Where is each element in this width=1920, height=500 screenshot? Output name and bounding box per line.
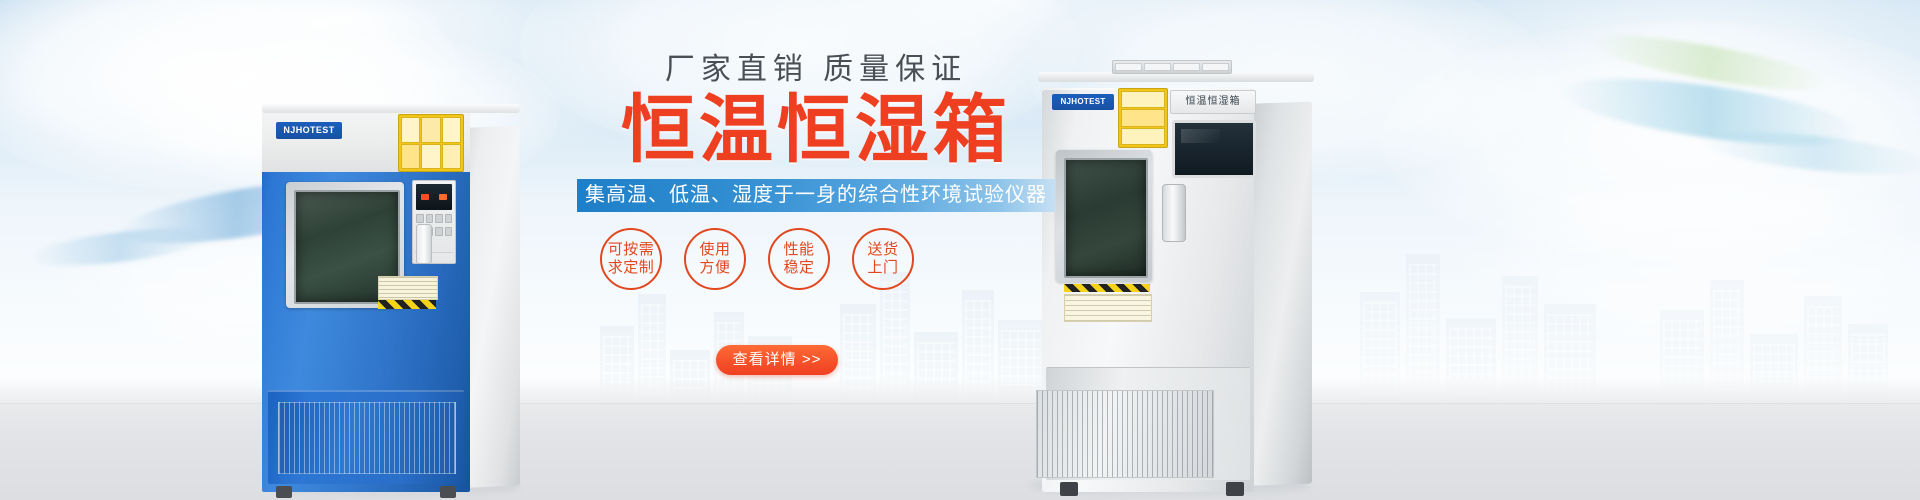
product-image-left-chamber: NJHOTEST xyxy=(262,104,524,492)
badge-line-2: 求定制 xyxy=(608,259,655,277)
controller-display xyxy=(1172,120,1256,178)
warning-label-panel xyxy=(398,114,464,172)
hazard-stripe xyxy=(1064,284,1150,292)
caster-wheel xyxy=(1060,482,1078,496)
feature-badge-custom[interactable]: 可按需 求定制 xyxy=(600,228,662,290)
badge-line-1: 送货 xyxy=(867,241,898,259)
badge-line-2: 稳定 xyxy=(783,259,814,277)
warning-label-panel xyxy=(1118,88,1168,148)
cloud-shape xyxy=(1380,20,1920,260)
feature-badge-delivery[interactable]: 送货 上门 xyxy=(852,228,914,290)
caster-wheel xyxy=(1226,482,1244,496)
banner-subtitle: 集高温、低温、湿度于一身的综合性环境试验仪器 xyxy=(577,179,1055,212)
feature-badge-easy-use[interactable]: 使用 方便 xyxy=(684,228,746,290)
chamber-door xyxy=(1056,150,1152,282)
hazard-stripe xyxy=(378,300,436,309)
ventilation-grill xyxy=(1036,390,1214,478)
banner-headline: 恒温恒湿箱 xyxy=(566,92,1066,167)
banner-eyebrow: 厂家直销 质量保证 xyxy=(566,44,1066,88)
badge-line-1: 性能 xyxy=(783,241,814,259)
blue-swoosh xyxy=(29,221,211,273)
feature-badge-list: 可按需 求定制 使用 方便 性能 稳定 送货 上门 xyxy=(600,228,1030,290)
product-image-right-chamber: NJHOTEST 恒温恒湿箱 xyxy=(1022,72,1322,492)
brand-logo-left: NJHOTEST xyxy=(276,122,342,139)
badge-line-2: 上门 xyxy=(867,259,898,277)
badge-line-1: 使用 xyxy=(699,241,730,259)
spec-sticker xyxy=(378,276,438,300)
product-nameplate: 恒温恒湿箱 xyxy=(1170,90,1256,114)
chamber-side-panel xyxy=(462,126,520,488)
door-handle xyxy=(416,224,432,264)
controller-display xyxy=(416,184,452,210)
chamber-top-rail xyxy=(1112,60,1232,74)
green-swoosh xyxy=(1589,25,1831,100)
badge-line-1: 可按需 xyxy=(608,241,655,259)
door-handle xyxy=(1162,184,1186,242)
blue-swoosh xyxy=(1699,124,1920,182)
controller-buttons xyxy=(416,214,452,223)
caster-wheel xyxy=(276,486,292,498)
door-viewing-window xyxy=(1064,158,1148,278)
chamber-top-lip xyxy=(262,104,520,113)
blue-swoosh xyxy=(1558,65,1862,158)
product-banner: NJHOTEST NJHOTEST 恒温恒湿箱 xyxy=(0,0,1920,500)
feature-badge-stable[interactable]: 性能 稳定 xyxy=(768,228,830,290)
caster-wheel xyxy=(440,486,456,498)
cloud-shape xyxy=(1460,180,1920,340)
banner-copy-block: 厂家直销 质量保证 恒温恒湿箱 集高温、低温、湿度于一身的综合性环境试验仪器 xyxy=(566,44,1066,212)
ventilation-grill xyxy=(278,402,456,474)
spec-sticker xyxy=(1064,294,1152,322)
badge-line-2: 方便 xyxy=(699,259,730,277)
view-details-button[interactable]: 查看详情 >> xyxy=(716,345,838,375)
